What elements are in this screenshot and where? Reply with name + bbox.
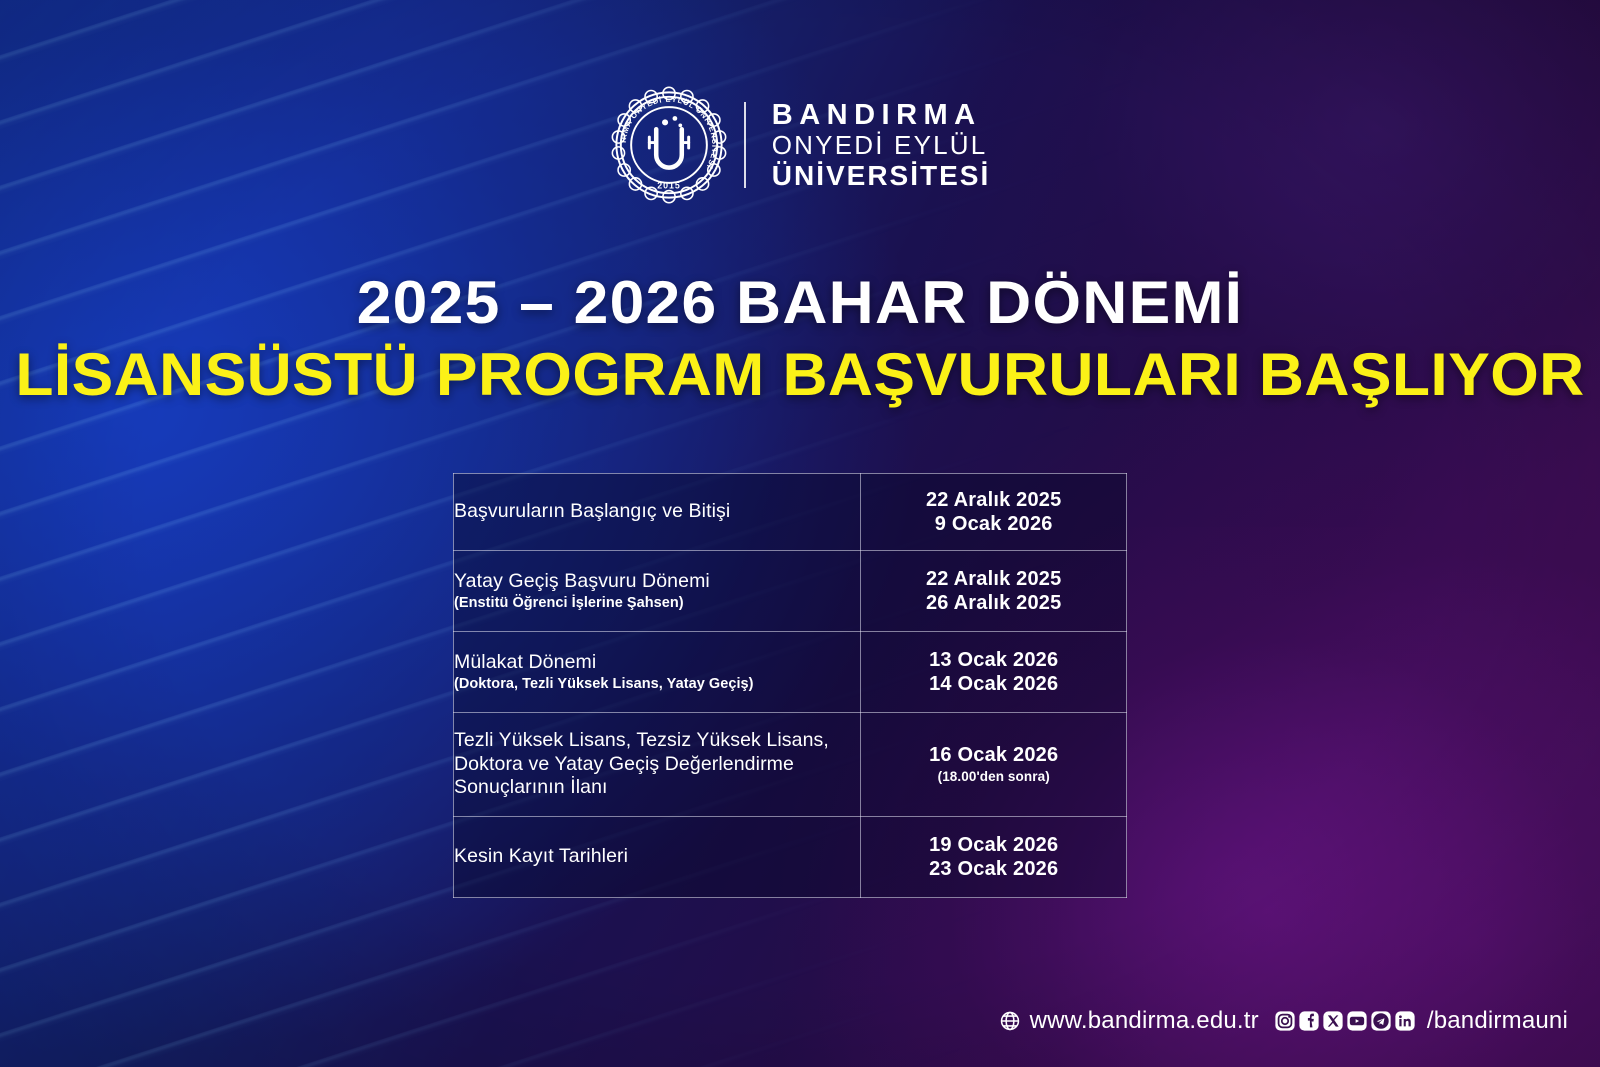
row-title: Başvuruların Başlangıç ve Bitişi: [454, 500, 860, 524]
row-date-line-2: 14 Ocak 2026: [861, 672, 1126, 696]
headline-line-2: LİSANSÜSTÜ PROGRAM BAŞVURULARI BAŞLIYOR: [0, 344, 1600, 406]
wordmark: BANDIRMA ONYEDİ EYLÜL ÜNİVERSİTESİ: [772, 99, 990, 192]
row-subtitle: (Doktora, Tezli Yüksek Lisans, Yatay Geç…: [454, 675, 860, 693]
row-subtitle: (Enstitü Öğrenci İşlerine Şahsen): [454, 594, 860, 612]
row-date-cell: 22 Aralık 2025 9 Ocak 2026: [861, 474, 1127, 551]
row-date-cell: 22 Aralık 2025 26 Aralık 2025: [861, 551, 1127, 632]
footer-bar: www.bandirma.edu.tr: [999, 1007, 1568, 1035]
telegram-icon[interactable]: [1370, 1010, 1392, 1032]
row-label-cell: Mülakat Dönemi (Doktora, Tezli Yüksek Li…: [454, 632, 861, 713]
row-date-line-1: 22 Aralık 2025: [861, 488, 1126, 512]
table-row: Başvuruların Başlangıç ve Bitişi 22 Aral…: [454, 474, 1127, 551]
wordmark-line-2: ONYEDİ EYLÜL: [772, 131, 990, 160]
youtube-icon[interactable]: [1346, 1010, 1368, 1032]
row-date-line-1: 13 Ocak 2026: [861, 648, 1126, 672]
schedule-table: Başvuruların Başlangıç ve Bitişi 22 Aral…: [453, 473, 1127, 898]
wordmark-line-1: BANDIRMA: [772, 99, 990, 131]
row-date-line-2: 23 Ocak 2026: [861, 857, 1126, 881]
website-link[interactable]: www.bandirma.edu.tr: [1030, 1007, 1259, 1035]
social-icon-group: [1274, 1010, 1416, 1032]
row-date-cell: 13 Ocak 2026 14 Ocak 2026: [861, 632, 1127, 713]
table-row: Kesin Kayıt Tarihleri 19 Ocak 2026 23 Oc…: [454, 817, 1127, 898]
row-date-line-1: 22 Aralık 2025: [861, 567, 1126, 591]
university-seal-icon: BANDIRMA ONYEDİ EYLÜL ÜNİVERSİTESİ 2015: [610, 86, 728, 204]
table-row: Tezli Yüksek Lisans, Tezsiz Yüksek Lisan…: [454, 713, 1127, 817]
top-right-glow-decoration: [920, 0, 1600, 500]
social-handle[interactable]: /bandirmauni: [1427, 1007, 1568, 1035]
row-date-note: (18.00'den sonra): [861, 769, 1126, 786]
row-date-line-1: 16 Ocak 2026: [861, 743, 1126, 767]
headline-block: 2025 – 2026 BAHAR DÖNEMİ LİSANSÜSTÜ PROG…: [0, 272, 1600, 407]
x-twitter-icon[interactable]: [1322, 1010, 1344, 1032]
globe-icon: [999, 1010, 1021, 1032]
instagram-icon[interactable]: [1274, 1010, 1296, 1032]
row-label-cell: Yatay Geçiş Başvuru Dönemi (Enstitü Öğre…: [454, 551, 861, 632]
facebook-icon[interactable]: [1298, 1010, 1320, 1032]
table-row: Yatay Geçiş Başvuru Dönemi (Enstitü Öğre…: [454, 551, 1127, 632]
row-label-cell: Tezli Yüksek Lisans, Tezsiz Yüksek Lisan…: [454, 713, 861, 817]
brand-header: BANDIRMA ONYEDİ EYLÜL ÜNİVERSİTESİ 2015: [0, 86, 1600, 204]
headline-line-1: 2025 – 2026 BAHAR DÖNEMİ: [0, 272, 1600, 334]
row-date-line-1: 19 Ocak 2026: [861, 833, 1126, 857]
row-title: Tezli Yüksek Lisans, Tezsiz Yüksek Lisan…: [454, 729, 860, 800]
row-date-cell: 16 Ocak 2026 (18.00'den sonra): [861, 713, 1127, 817]
row-title: Kesin Kayıt Tarihleri: [454, 845, 860, 869]
row-title: Mülakat Dönemi: [454, 651, 860, 675]
poster-canvas: BANDIRMA ONYEDİ EYLÜL ÜNİVERSİTESİ 2015: [0, 0, 1600, 1067]
wordmark-line-3: ÜNİVERSİTESİ: [772, 160, 990, 191]
table-row: Mülakat Dönemi (Doktora, Tezli Yüksek Li…: [454, 632, 1127, 713]
row-label-cell: Kesin Kayıt Tarihleri: [454, 817, 861, 898]
linkedin-icon[interactable]: [1394, 1010, 1416, 1032]
row-title: Yatay Geçiş Başvuru Dönemi: [454, 570, 860, 594]
logo-divider: [744, 102, 746, 188]
row-date-line-2: 26 Aralık 2025: [861, 591, 1126, 615]
svg-text:2015: 2015: [657, 180, 681, 190]
row-date-line-2: 9 Ocak 2026: [861, 512, 1126, 536]
row-label-cell: Başvuruların Başlangıç ve Bitişi: [454, 474, 861, 551]
row-date-cell: 19 Ocak 2026 23 Ocak 2026: [861, 817, 1127, 898]
